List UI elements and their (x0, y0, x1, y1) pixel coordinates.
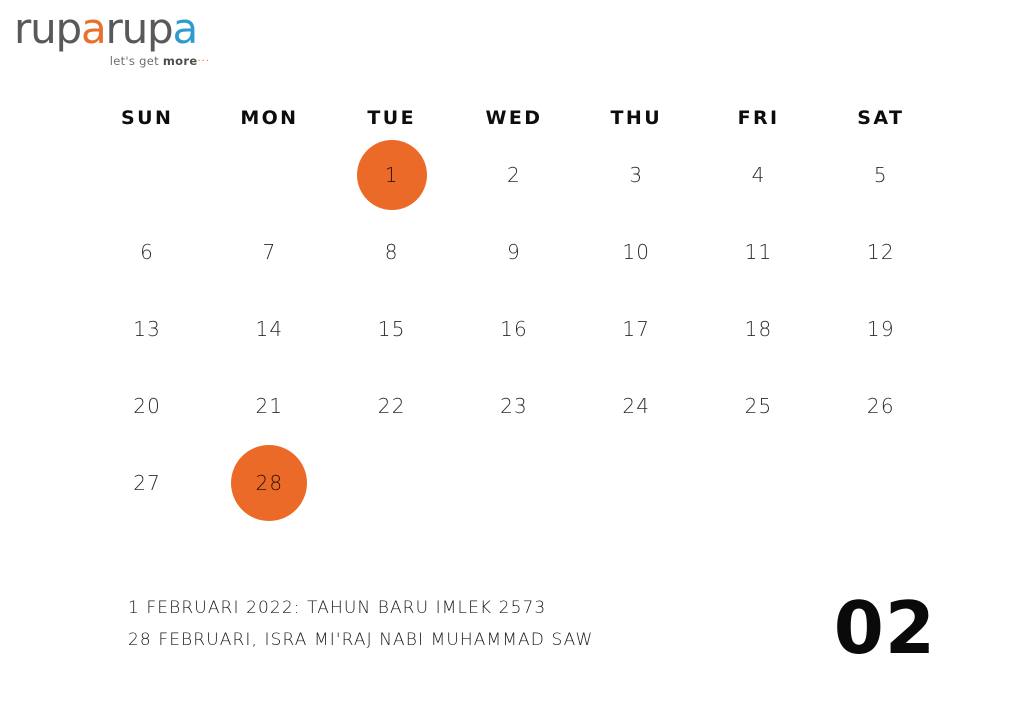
day-cell-8[interactable]: 8 (331, 213, 453, 290)
calendar-week-row: 20212223242526 (86, 367, 942, 444)
day-cell-1[interactable]: 1 (331, 136, 453, 213)
day-cell-22[interactable]: 22 (331, 367, 453, 444)
holiday-note-line: 28 FEBRUARI, ISRA MI'RAJ NABI MUHAMMAD S… (128, 632, 593, 649)
day-cell-12[interactable]: 12 (820, 213, 942, 290)
day-number-label: 17 (622, 319, 650, 339)
day-cell-26[interactable]: 26 (820, 367, 942, 444)
day-cell-24[interactable]: 24 (575, 367, 697, 444)
day-number-label: 4 (752, 165, 766, 185)
calendar-week-row: 2728 (86, 444, 942, 521)
day-cell-18[interactable]: 18 (697, 290, 819, 367)
day-cell-11[interactable]: 11 (697, 213, 819, 290)
day-cell-14[interactable]: 14 (208, 290, 330, 367)
logo-tagline: let's get more··· (14, 54, 210, 68)
day-cell-7[interactable]: 7 (208, 213, 330, 290)
day-number-label: 14 (255, 319, 283, 339)
day-cell-3[interactable]: 3 (575, 136, 697, 213)
day-number-label: 2 (507, 165, 521, 185)
day-number-label: 23 (500, 396, 528, 416)
weekday-header-sun: SUN (86, 100, 208, 136)
day-number-label: 6 (140, 242, 154, 262)
month-number: 02 (834, 592, 936, 664)
day-cell-10[interactable]: 10 (575, 213, 697, 290)
day-number-label: 11 (745, 242, 773, 262)
logo-text-a-blue: a (172, 4, 197, 53)
day-cell-28[interactable]: 28 (208, 444, 330, 521)
day-number-label: 20 (133, 396, 161, 416)
day-number-label: 1 (385, 165, 399, 185)
weekday-header-mon: MON (208, 100, 330, 136)
day-number-label: 28 (255, 473, 283, 493)
day-cell-19[interactable]: 19 (820, 290, 942, 367)
weekday-header-tue: TUE (331, 100, 453, 136)
day-cell-23[interactable]: 23 (453, 367, 575, 444)
day-number-label: 26 (867, 396, 895, 416)
day-number-label: 12 (867, 242, 895, 262)
day-cell-20[interactable]: 20 (86, 367, 208, 444)
day-number-label: 13 (133, 319, 161, 339)
day-number-label: 7 (262, 242, 276, 262)
day-cell-25[interactable]: 25 (697, 367, 819, 444)
tagline-dots-icon: ··· (197, 56, 210, 67)
holiday-notes: 1 FEBRUARI 2022: TAHUN BARU IMLEK 257328… (128, 600, 593, 664)
weekday-header-fri: FRI (697, 100, 819, 136)
day-number-label: 24 (622, 396, 650, 416)
day-number-label: 16 (500, 319, 528, 339)
day-number-label: 27 (133, 473, 161, 493)
day-cell-16[interactable]: 16 (453, 290, 575, 367)
day-number-label: 19 (867, 319, 895, 339)
day-number-label: 9 (507, 242, 521, 262)
day-cell-5[interactable]: 5 (820, 136, 942, 213)
day-number-label: 18 (745, 319, 773, 339)
day-cell-9[interactable]: 9 (453, 213, 575, 290)
day-cell-27[interactable]: 27 (86, 444, 208, 521)
day-number-label: 21 (255, 396, 283, 416)
day-cell-2[interactable]: 2 (453, 136, 575, 213)
weekday-header-thu: THU (575, 100, 697, 136)
day-number-label: 8 (385, 242, 399, 262)
day-number-label: 10 (622, 242, 650, 262)
day-cell-15[interactable]: 15 (331, 290, 453, 367)
day-number-label: 5 (874, 165, 888, 185)
day-cell-13[interactable]: 13 (86, 290, 208, 367)
day-cell-6[interactable]: 6 (86, 213, 208, 290)
day-number-label: 15 (378, 319, 406, 339)
day-cell-21[interactable]: 21 (208, 367, 330, 444)
logo-text-a-orange: a (81, 4, 106, 53)
holiday-note-line: 1 FEBRUARI 2022: TAHUN BARU IMLEK 2573 (128, 600, 593, 617)
logo-text-rup-1: rup (14, 4, 81, 53)
day-number-label: 3 (629, 165, 643, 185)
tagline-prefix: let's get (110, 54, 163, 68)
logo-wordmark: ruparupa (14, 8, 244, 50)
day-cell-4[interactable]: 4 (697, 136, 819, 213)
day-number-label: 22 (378, 396, 406, 416)
weekday-header-wed: WED (453, 100, 575, 136)
calendar-week-row: 6789101112 (86, 213, 942, 290)
day-number-label: 25 (745, 396, 773, 416)
brand-logo: ruparupa let's get more··· (14, 8, 244, 68)
day-cell-17[interactable]: 17 (575, 290, 697, 367)
calendar-grid: SUNMONTUEWEDTHUFRISAT 123456789101112131… (86, 100, 942, 521)
calendar-weeks: 1234567891011121314151617181920212223242… (86, 136, 942, 521)
calendar-week-row: 13141516171819 (86, 290, 942, 367)
logo-text-rup-2: rup (106, 4, 173, 53)
calendar-week-row: 12345 (86, 136, 942, 213)
tagline-emphasis: more (163, 54, 198, 68)
weekday-header-sat: SAT (820, 100, 942, 136)
weekday-header-row: SUNMONTUEWEDTHUFRISAT (86, 100, 942, 136)
